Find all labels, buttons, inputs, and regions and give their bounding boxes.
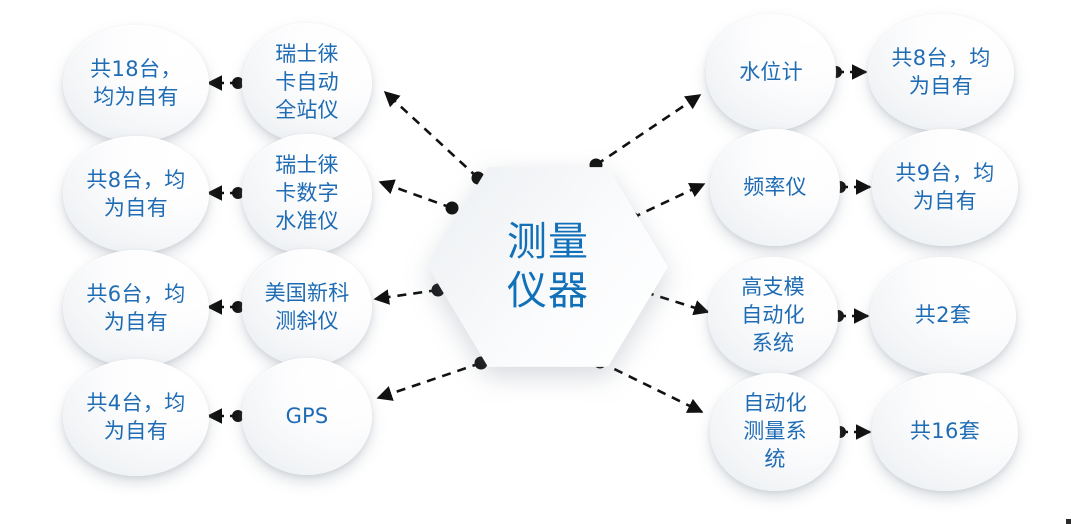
right-equipment-label-4: 自动化 测量系 统 <box>733 390 817 473</box>
right-equipment-label-2: 频率仪 <box>733 174 817 202</box>
left-count-node-3[interactable]: 共6台，均 为自有 <box>63 250 209 367</box>
left-equipment-node-2[interactable]: 瑞士徕 卡数字 水准仪 <box>242 134 372 254</box>
right-count-label-4: 共16套 <box>900 418 990 446</box>
right-equipment-label-3: 高支模 自动化 系统 <box>731 274 815 357</box>
right-count-node-2[interactable]: 共9台，均 为自有 <box>872 129 1018 246</box>
left-count-node-1[interactable]: 共18台， 均为自有 <box>63 25 209 142</box>
right-count-label-3: 共2套 <box>905 302 982 330</box>
right-count-node-4[interactable]: 共16套 <box>872 373 1018 491</box>
left-equipment-to-count-connectors <box>208 77 244 422</box>
left-equipment-label-1: 瑞士徕 卡自动 全站仪 <box>265 41 349 124</box>
left-equipment-label-4: GPS <box>276 403 339 431</box>
right-equipment-node-1[interactable]: 水位计 <box>706 14 836 131</box>
right-count-label-2: 共9台，均 为自有 <box>885 160 1004 215</box>
left-equipment-label-3: 美国新科 测斜仪 <box>255 280 360 335</box>
left-equipment-label-2: 瑞士徕 卡数字 水准仪 <box>265 152 349 235</box>
right-equipment-node-3[interactable]: 高支模 自动化 系统 <box>708 257 838 375</box>
right-equipment-label-1: 水位计 <box>729 59 813 87</box>
left-count-node-4[interactable]: 共4台，均 为自有 <box>63 359 209 476</box>
left-count-label-4: 共4台，均 为自有 <box>76 390 195 445</box>
center-hexagon-label: 测量 仪器 <box>507 218 589 316</box>
left-count-label-2: 共8台，均 为自有 <box>76 167 195 222</box>
left-count-node-2[interactable]: 共8台，均 为自有 <box>63 136 209 253</box>
right-equipment-to-count-connectors <box>830 66 870 438</box>
left-equipment-node-1[interactable]: 瑞士徕 卡自动 全站仪 <box>242 23 372 143</box>
mind-map-diagram: 共18台， 均为自有 共8台，均 为自有 共6台，均 为自有 共4台，均 为自有… <box>0 0 1071 524</box>
right-count-node-1[interactable]: 共8台，均 为自有 <box>868 14 1014 131</box>
left-count-label-3: 共6台，均 为自有 <box>76 281 195 336</box>
right-equipment-node-2[interactable]: 频率仪 <box>710 129 840 246</box>
right-equipment-node-4[interactable]: 自动化 测量系 统 <box>710 373 840 491</box>
left-count-label-1: 共18台， 均为自有 <box>80 56 192 111</box>
right-count-node-3[interactable]: 共2套 <box>870 257 1016 375</box>
corner-artifact <box>1066 519 1071 524</box>
left-equipment-node-3[interactable]: 美国新科 测斜仪 <box>242 249 372 366</box>
left-equipment-node-4[interactable]: GPS <box>242 358 372 475</box>
right-count-label-1: 共8台，均 为自有 <box>881 45 1000 100</box>
center-hexagon[interactable]: 测量 仪器 <box>428 163 668 371</box>
center-hexagon-shape: 测量 仪器 <box>428 163 668 371</box>
